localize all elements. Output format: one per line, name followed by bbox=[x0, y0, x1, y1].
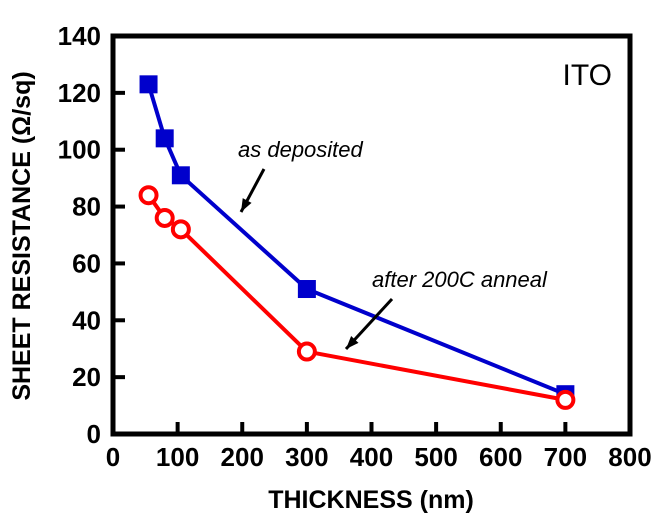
series-2 bbox=[141, 187, 574, 408]
annotation-1: as deposited bbox=[238, 137, 364, 212]
annotation-label: after 200C anneal bbox=[372, 267, 548, 292]
x-tick-label-300: 300 bbox=[285, 442, 328, 472]
y-tick-label-20: 20 bbox=[72, 362, 101, 392]
data-point-marker bbox=[157, 210, 173, 226]
x-tick-label-400: 400 bbox=[350, 442, 393, 472]
sheet-resistance-line-chart: 020406080100120140 010020030040050060070… bbox=[0, 0, 663, 529]
y-tick-label-100: 100 bbox=[58, 135, 101, 165]
y-tick-label-80: 80 bbox=[72, 192, 101, 222]
axis-frame-rect bbox=[113, 36, 630, 434]
data-point-marker bbox=[298, 280, 316, 298]
data-point-marker bbox=[140, 75, 158, 93]
x-tick-label-200: 200 bbox=[221, 442, 264, 472]
data-point-marker bbox=[172, 166, 190, 184]
x-tick-label-100: 100 bbox=[156, 442, 199, 472]
series-1 bbox=[140, 75, 575, 403]
annotation-arrow-head bbox=[241, 198, 252, 212]
y-tick-label-60: 60 bbox=[72, 248, 101, 278]
x-axis-tick-labels: 0100200300400500600700800 bbox=[106, 442, 652, 472]
annotation-label: as deposited bbox=[238, 137, 364, 162]
annotation-layer: as depositedafter 200C anneal bbox=[238, 137, 548, 349]
annotation-2: after 200C anneal bbox=[346, 267, 548, 349]
y-axis-title: SHEET RESISTANCE (Ω/sq) bbox=[8, 71, 36, 400]
data-point-marker bbox=[557, 392, 573, 408]
y-tick-label-140: 140 bbox=[58, 21, 101, 51]
y-tick-label-40: 40 bbox=[72, 305, 101, 335]
data-point-marker bbox=[156, 129, 174, 147]
data-point-marker bbox=[141, 187, 157, 203]
y-tick-label-120: 120 bbox=[58, 78, 101, 108]
x-tick-label-800: 800 bbox=[608, 442, 651, 472]
data-point-marker bbox=[173, 221, 189, 237]
x-tick-label-700: 700 bbox=[544, 442, 587, 472]
y-tick-label-0: 0 bbox=[87, 419, 101, 449]
x-axis-title: THICKNESS (nm) bbox=[268, 486, 474, 514]
x-tick-label-600: 600 bbox=[479, 442, 522, 472]
data-series-layer bbox=[140, 75, 575, 408]
plot-material-label: ITO bbox=[563, 59, 612, 92]
chart-container: 020406080100120140 010020030040050060070… bbox=[0, 0, 663, 529]
x-tick-label-0: 0 bbox=[106, 442, 120, 472]
data-point-marker bbox=[299, 344, 315, 360]
x-tick-label-500: 500 bbox=[414, 442, 457, 472]
series-line bbox=[149, 84, 566, 394]
plot-frame bbox=[113, 36, 630, 434]
y-axis-tick-labels: 020406080100120140 bbox=[58, 21, 101, 449]
